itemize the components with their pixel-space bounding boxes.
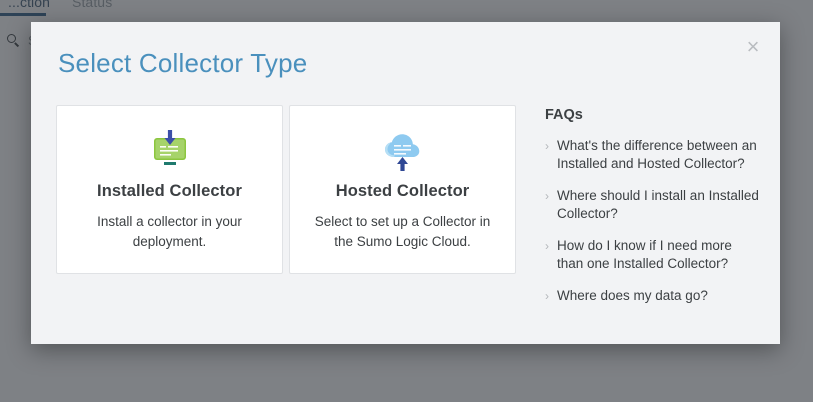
- chevron-right-icon: ›: [545, 187, 557, 224]
- hosted-collector-card[interactable]: Hosted Collector Select to set up a Coll…: [289, 105, 516, 274]
- dialog-body: Installed Collector Install a collector …: [56, 105, 758, 326]
- hosted-collector-description: Select to set up a Collector in the Sumo…: [312, 212, 494, 251]
- faq-item-data-go[interactable]: › Where does my data go?: [545, 287, 761, 305]
- select-collector-type-dialog: × Select Collector Type: [31, 22, 780, 344]
- faq-item-label: Where does my data go?: [557, 287, 761, 305]
- collector-type-cards: Installed Collector Install a collector …: [56, 105, 519, 326]
- cloud-upload-icon: [381, 128, 425, 174]
- hosted-collector-title: Hosted Collector: [336, 182, 470, 201]
- chevron-right-icon: ›: [545, 137, 557, 174]
- faq-heading: FAQs: [545, 107, 761, 123]
- page-title: Select Collector Type: [58, 48, 307, 79]
- faq-item-label: What's the difference between an Install…: [557, 137, 761, 174]
- monitor-download-icon: [148, 128, 192, 174]
- faq-item-where-install[interactable]: › Where should I install an Installed Co…: [545, 187, 761, 224]
- faq-section: FAQs › What's the difference between an …: [519, 105, 761, 326]
- faq-item-how-many[interactable]: › How do I know if I need more than one …: [545, 237, 761, 274]
- faq-item-label: How do I know if I need more than one In…: [557, 237, 761, 274]
- faq-item-label: Where should I install an Installed Coll…: [557, 187, 761, 224]
- chevron-right-icon: ›: [545, 287, 557, 305]
- installed-collector-card[interactable]: Installed Collector Install a collector …: [56, 105, 283, 274]
- installed-collector-description: Install a collector in your deployment.: [79, 212, 261, 251]
- chevron-right-icon: ›: [545, 237, 557, 274]
- installed-collector-title: Installed Collector: [97, 182, 242, 201]
- close-icon[interactable]: ×: [740, 34, 766, 60]
- faq-item-difference[interactable]: › What's the difference between an Insta…: [545, 137, 761, 174]
